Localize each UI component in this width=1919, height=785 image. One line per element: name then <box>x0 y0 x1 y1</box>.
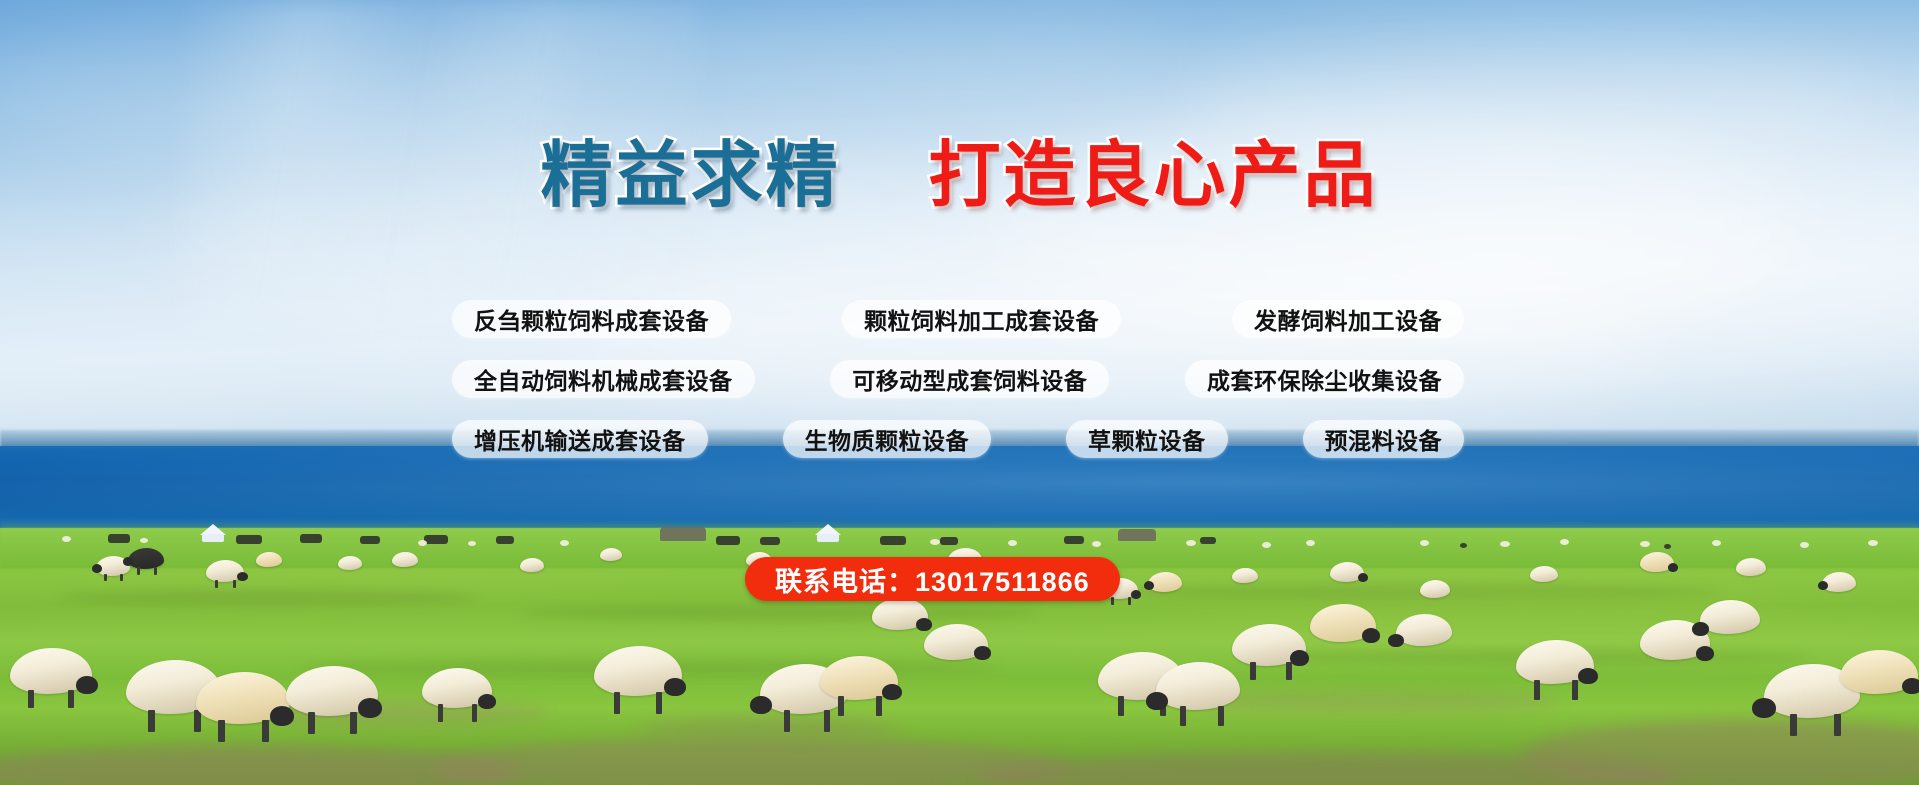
tag-pellet-feed-processing-complete-equipment[interactable]: 颗粒饲料加工成套设备 <box>842 300 1121 338</box>
headline: 精益求精 打造良心产品 <box>0 140 1919 212</box>
tag-premix-equipment[interactable]: 预混料设备 <box>1303 420 1465 458</box>
banner-content: 精益求精 打造良心产品 反刍颗粒饲料成套设备 颗粒饲料加工成套设备 发酵饲料加工… <box>0 0 1919 785</box>
tag-ruminant-pellet-feed-complete-equipment[interactable]: 反刍颗粒饲料成套设备 <box>452 300 731 338</box>
promo-banner: 精益求精 打造良心产品 反刍颗粒饲料成套设备 颗粒饲料加工成套设备 发酵饲料加工… <box>0 0 1919 785</box>
tag-biomass-pellet-equipment[interactable]: 生物质颗粒设备 <box>783 420 992 458</box>
headline-part-blue: 精益求精 <box>540 140 840 212</box>
product-tag-list: 反刍颗粒饲料成套设备 颗粒饲料加工成套设备 发酵饲料加工设备 全自动饲料机械成套… <box>452 300 1464 458</box>
tag-row-2: 全自动饲料机械成套设备 可移动型成套饲料设备 成套环保除尘收集设备 <box>452 360 1464 398</box>
tag-fermented-feed-processing-equipment[interactable]: 发酵饲料加工设备 <box>1232 300 1464 338</box>
tag-row-3: 增压机输送成套设备 生物质颗粒设备 草颗粒设备 预混料设备 <box>452 420 1464 458</box>
contact-phone-button[interactable]: 联系电话：13017511866 <box>745 557 1120 601</box>
tag-booster-conveying-complete-equipment[interactable]: 增压机输送成套设备 <box>452 420 708 458</box>
tag-fully-automatic-feed-machinery-complete-equipment[interactable]: 全自动饲料机械成套设备 <box>452 360 755 398</box>
tag-complete-environmental-dust-collection-equipment[interactable]: 成套环保除尘收集设备 <box>1185 360 1464 398</box>
tag-grass-pellet-equipment[interactable]: 草颗粒设备 <box>1066 420 1228 458</box>
headline-part-red: 打造良心产品 <box>929 140 1379 212</box>
tag-row-1: 反刍颗粒饲料成套设备 颗粒饲料加工成套设备 发酵饲料加工设备 <box>452 300 1464 338</box>
tag-mobile-complete-feed-equipment[interactable]: 可移动型成套饲料设备 <box>830 360 1109 398</box>
